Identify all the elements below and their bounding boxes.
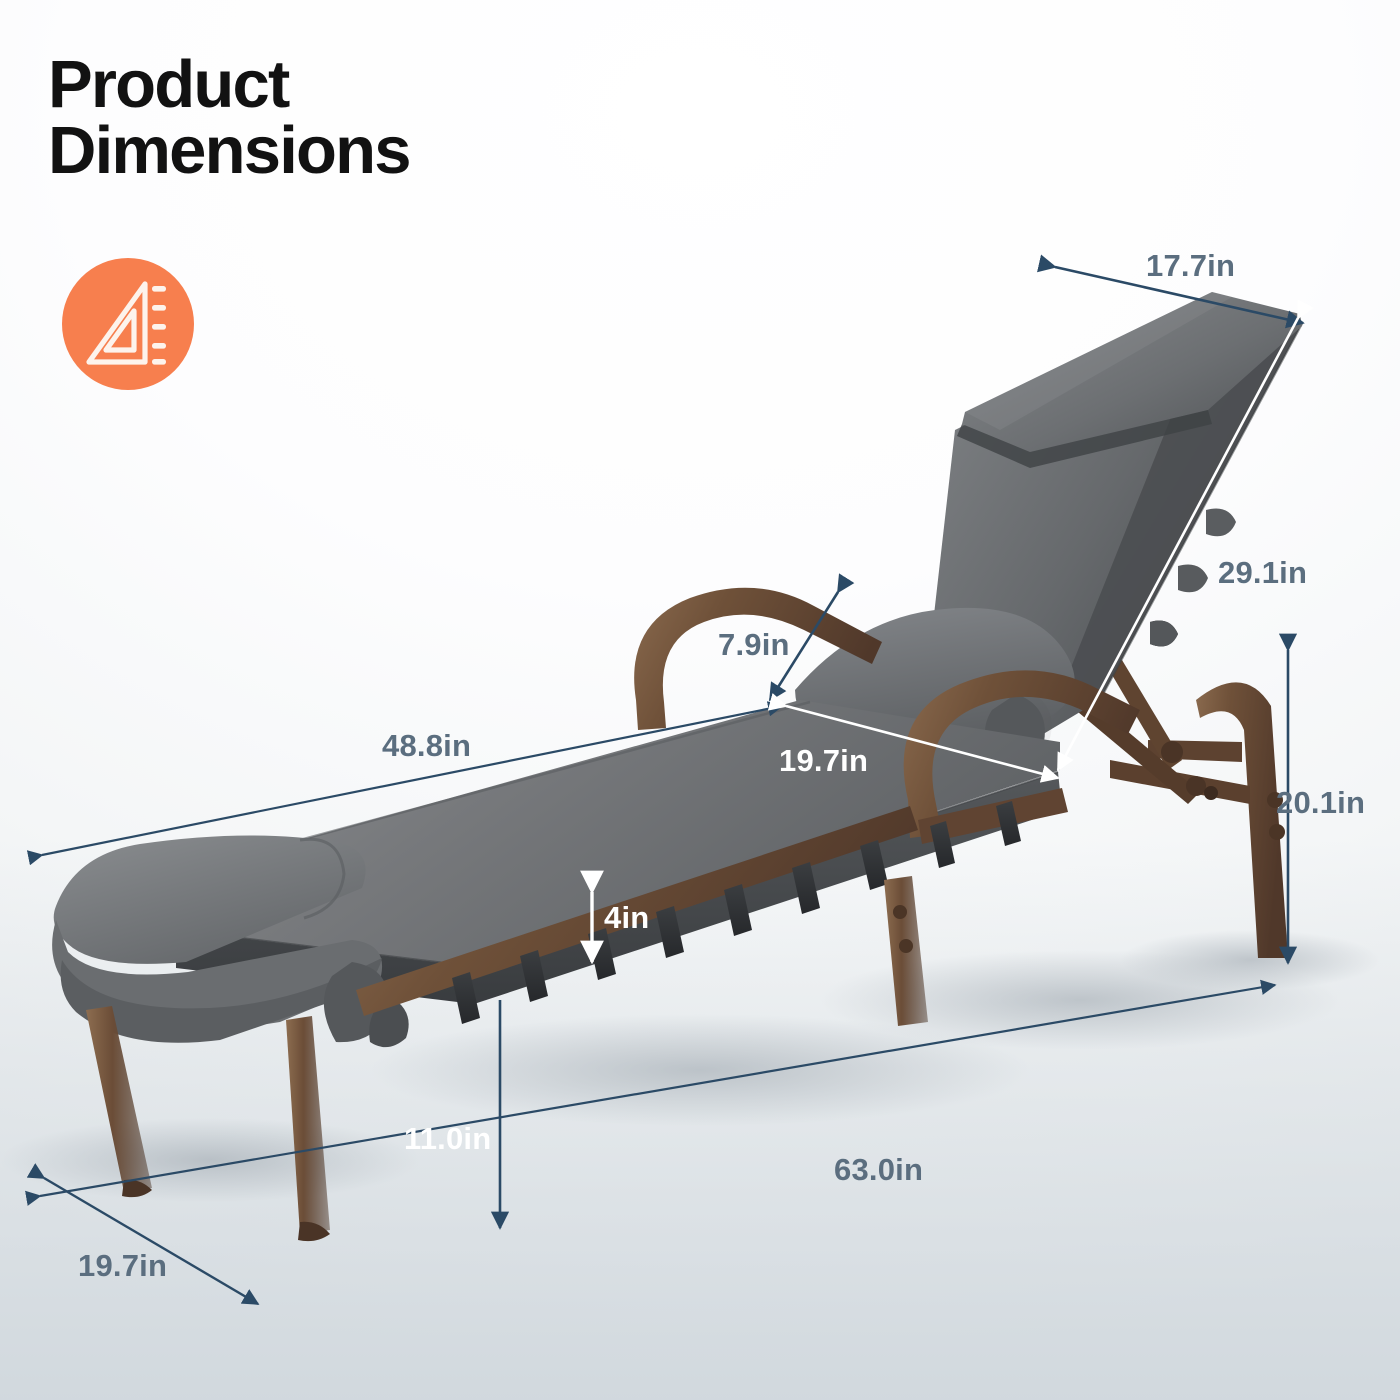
label-seat-height: 11.0in [404,1121,491,1157]
label-lounge-length: 48.8in [382,728,471,764]
label-back-leg-height: 20.1in [1276,785,1365,821]
frame-rear-arch [1196,682,1288,958]
label-seat-width: 19.7in [779,743,868,779]
label-headrest-width: 17.7in [1146,248,1235,284]
label-overall-depth: 19.7in [78,1248,167,1284]
label-backrest-height: 29.1in [1218,555,1307,591]
infographic-canvas: Product Dimensions [0,0,1400,1400]
label-armrest-height: 7.9in [718,627,790,663]
label-cushion-thickness: 4in [604,900,649,936]
label-overall-length: 63.0in [834,1152,923,1188]
chaise-lounge-product-image [0,0,1400,1400]
